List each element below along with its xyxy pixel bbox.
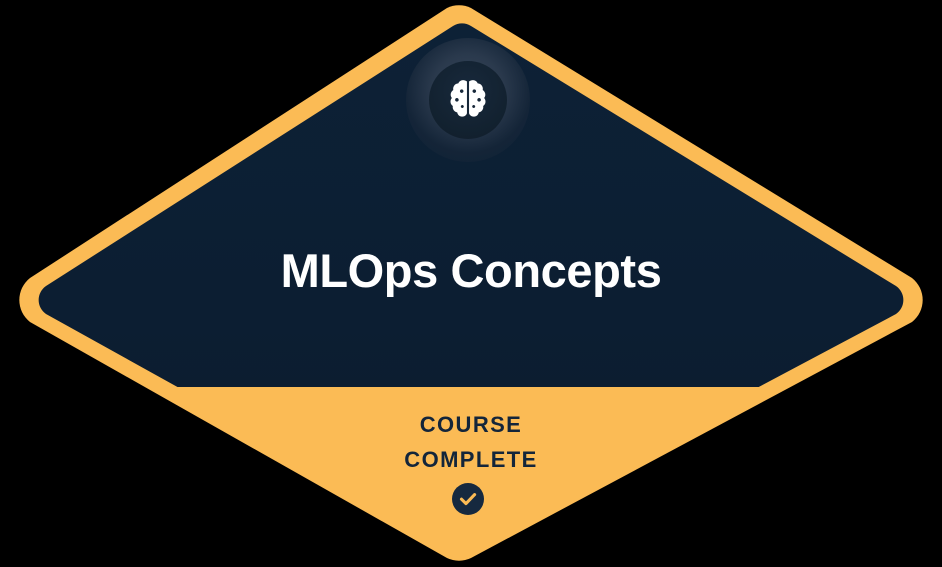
brain-icon bbox=[444, 76, 492, 124]
check-circle-icon bbox=[452, 483, 484, 515]
badge-stage: MLOps Concepts COURSE COMPLETE bbox=[0, 0, 942, 567]
